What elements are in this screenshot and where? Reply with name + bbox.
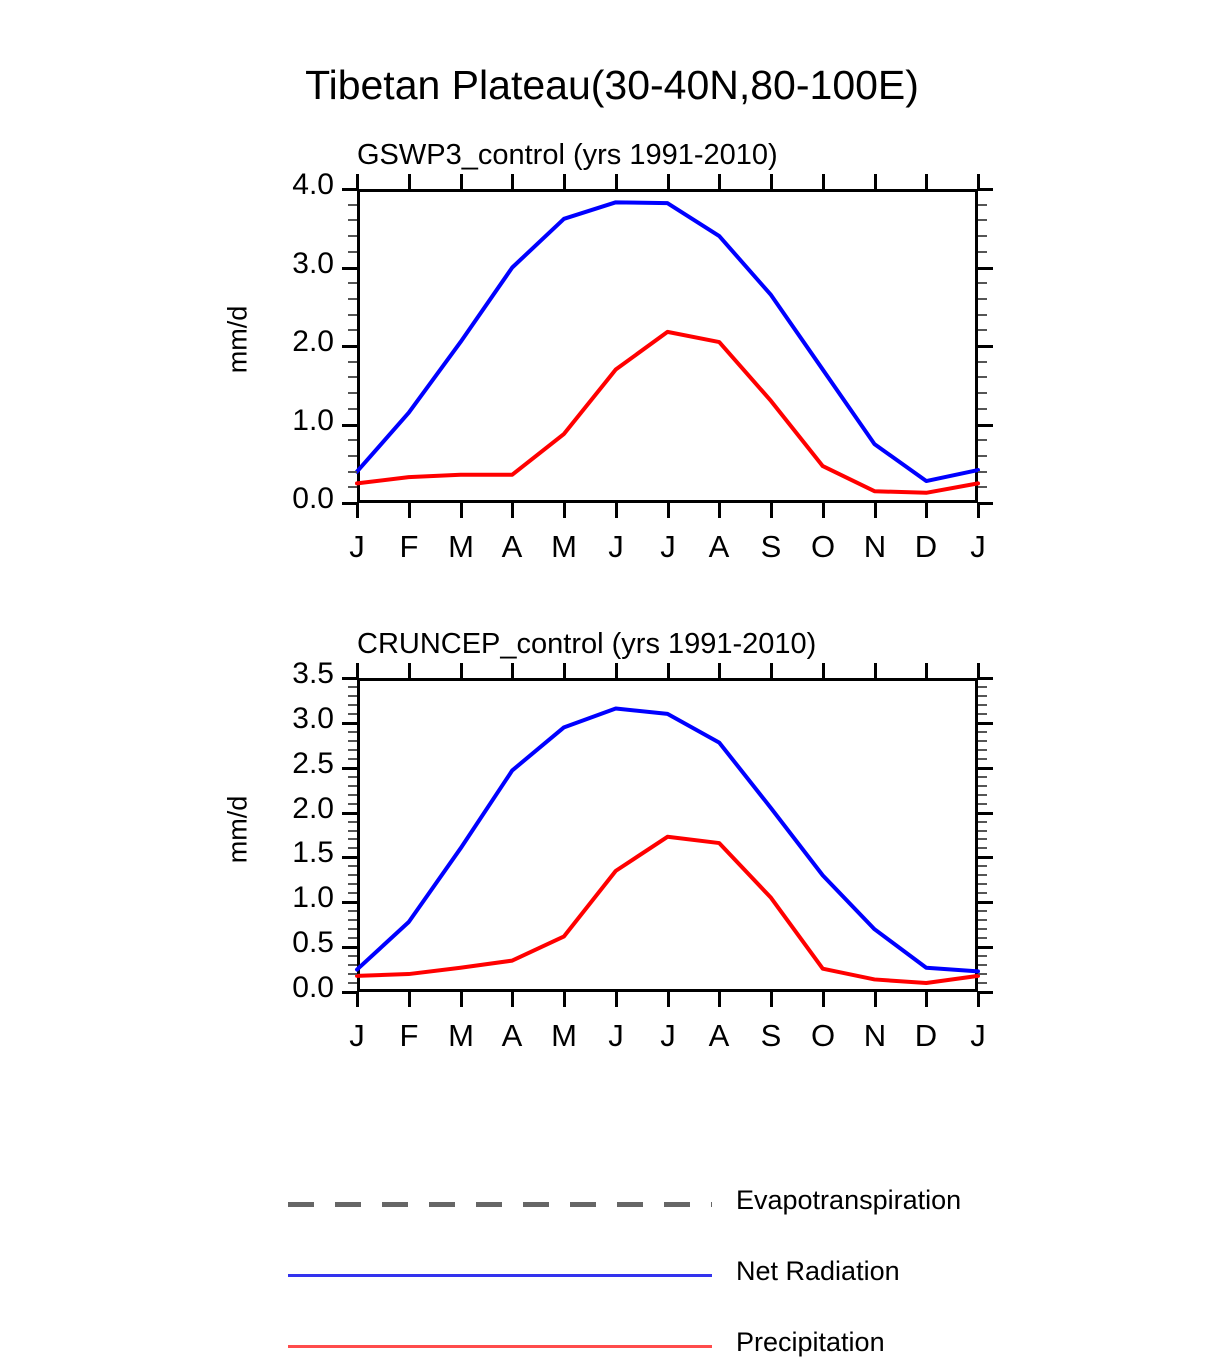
y-tick-major (978, 856, 993, 859)
y-tick-minor (348, 955, 357, 957)
series-line-precipitation (357, 837, 978, 983)
x-tick-major (822, 992, 825, 1007)
x-tick-major (667, 663, 670, 678)
y-tick-minor (348, 785, 357, 787)
x-tick-major (615, 663, 618, 678)
y-tick-minor (978, 865, 987, 867)
y-tick-minor (978, 830, 987, 832)
y-tick-minor (978, 838, 987, 840)
y-tick-minor (348, 740, 357, 742)
y-tick-minor (978, 758, 987, 760)
y-tick-major (342, 722, 357, 725)
y-tick-major (342, 946, 357, 949)
y-tick-minor (978, 731, 987, 733)
x-tick-major (356, 992, 359, 1007)
x-tick-major (770, 663, 773, 678)
x-tick-major (977, 663, 980, 678)
x-tick-label: O (797, 1018, 849, 1054)
legend-label: Precipitation (736, 1327, 885, 1358)
legend-swatch-net-radiation (288, 1274, 712, 1277)
x-tick-major (460, 992, 463, 1007)
y-tick-minor (978, 874, 987, 876)
y-tick-minor (348, 695, 357, 697)
y-tick-minor (348, 794, 357, 796)
y-tick-minor (348, 865, 357, 867)
y-tick-minor (348, 919, 357, 921)
x-tick-label: A (486, 1018, 538, 1054)
x-tick-label: J (952, 1018, 1004, 1054)
y-tick-label: 3.5 (242, 657, 334, 691)
y-tick-minor (978, 821, 987, 823)
x-tick-label: A (693, 1018, 745, 1054)
y-tick-label: 2.0 (242, 792, 334, 826)
y-tick-major (978, 722, 993, 725)
y-tick-label: 3.0 (242, 702, 334, 736)
y-tick-minor (978, 776, 987, 778)
legend-item: Evapotranspiration (288, 1185, 1088, 1225)
y-tick-minor (978, 704, 987, 706)
x-tick-label: J (331, 1018, 383, 1054)
y-tick-minor (348, 704, 357, 706)
x-tick-major (874, 992, 877, 1007)
legend-label: Evapotranspiration (736, 1185, 961, 1216)
y-tick-major (342, 767, 357, 770)
y-tick-major (342, 677, 357, 680)
x-tick-label: S (745, 1018, 797, 1054)
y-tick-minor (348, 803, 357, 805)
x-tick-major (925, 992, 928, 1007)
y-tick-major (342, 812, 357, 815)
y-tick-minor (978, 847, 987, 849)
y-tick-minor (978, 982, 987, 984)
y-tick-minor (978, 803, 987, 805)
legend-label: Net Radiation (736, 1256, 900, 1287)
y-tick-minor (348, 928, 357, 930)
y-tick-minor (348, 686, 357, 688)
y-tick-major (978, 677, 993, 680)
y-tick-minor (978, 713, 987, 715)
y-tick-minor (978, 937, 987, 939)
x-tick-label: M (435, 1018, 487, 1054)
x-tick-major (511, 663, 514, 678)
y-tick-minor (348, 776, 357, 778)
legend-item: Net Radiation (288, 1256, 1088, 1296)
x-tick-label: J (590, 1018, 642, 1054)
y-tick-major (342, 856, 357, 859)
y-tick-major (978, 946, 993, 949)
x-tick-major (460, 663, 463, 678)
y-tick-label: 1.5 (242, 836, 334, 870)
y-tick-minor (978, 785, 987, 787)
y-tick-major (978, 812, 993, 815)
x-tick-major (925, 663, 928, 678)
x-tick-label: N (849, 1018, 901, 1054)
x-tick-major (770, 992, 773, 1007)
y-tick-minor (348, 883, 357, 885)
y-tick-minor (348, 713, 357, 715)
y-tick-minor (348, 937, 357, 939)
y-tick-minor (978, 749, 987, 751)
y-tick-minor (348, 892, 357, 894)
y-tick-minor (348, 838, 357, 840)
y-tick-minor (978, 695, 987, 697)
y-tick-minor (348, 847, 357, 849)
x-tick-major (718, 992, 721, 1007)
y-tick-minor (978, 928, 987, 930)
x-tick-label: J (642, 1018, 694, 1054)
y-tick-major (342, 991, 357, 994)
x-tick-major (563, 992, 566, 1007)
x-tick-major (874, 663, 877, 678)
y-tick-major (342, 901, 357, 904)
x-tick-major (977, 992, 980, 1007)
y-tick-minor (348, 830, 357, 832)
x-tick-major (718, 663, 721, 678)
x-tick-major (408, 663, 411, 678)
y-tick-minor (348, 758, 357, 760)
y-tick-minor (978, 892, 987, 894)
y-tick-label: 0.0 (242, 971, 334, 1005)
y-tick-major (978, 767, 993, 770)
y-tick-minor (978, 919, 987, 921)
x-tick-major (667, 992, 670, 1007)
y-tick-label: 2.5 (242, 747, 334, 781)
y-tick-minor (348, 731, 357, 733)
x-tick-major (356, 663, 359, 678)
y-tick-label: 0.5 (242, 926, 334, 960)
legend-swatch-precipitation (288, 1345, 712, 1348)
chart-panel-cruncep: CRUNCEP_control (yrs 1991-2010) mm/d 0.0… (0, 0, 1224, 1360)
y-tick-minor (978, 740, 987, 742)
y-tick-minor (348, 874, 357, 876)
legend-item: Precipitation (288, 1327, 1088, 1367)
series-line-net-radiation (357, 709, 978, 972)
y-tick-minor (348, 821, 357, 823)
y-tick-minor (348, 964, 357, 966)
x-tick-major (408, 992, 411, 1007)
y-tick-minor (348, 982, 357, 984)
x-tick-label: F (383, 1018, 435, 1054)
x-tick-major (511, 992, 514, 1007)
x-tick-label: D (900, 1018, 952, 1054)
y-tick-major (978, 991, 993, 994)
y-tick-minor (348, 749, 357, 751)
y-tick-minor (978, 910, 987, 912)
y-tick-label: 1.0 (242, 881, 334, 915)
x-tick-major (822, 663, 825, 678)
y-tick-minor (978, 883, 987, 885)
y-tick-minor (978, 955, 987, 957)
x-tick-major (563, 663, 566, 678)
y-tick-minor (978, 794, 987, 796)
legend-swatch-evapotranspiration (288, 1202, 712, 1207)
y-tick-minor (978, 964, 987, 966)
figure-root: Tibetan Plateau(30-40N,80-100E) GSWP3_co… (0, 0, 1224, 1360)
x-tick-major (615, 992, 618, 1007)
y-tick-minor (348, 910, 357, 912)
y-tick-minor (978, 973, 987, 975)
y-tick-minor (978, 686, 987, 688)
x-tick-label: M (538, 1018, 590, 1054)
y-tick-minor (348, 973, 357, 975)
series-layer-cruncep (0, 0, 1224, 1360)
y-tick-major (978, 901, 993, 904)
